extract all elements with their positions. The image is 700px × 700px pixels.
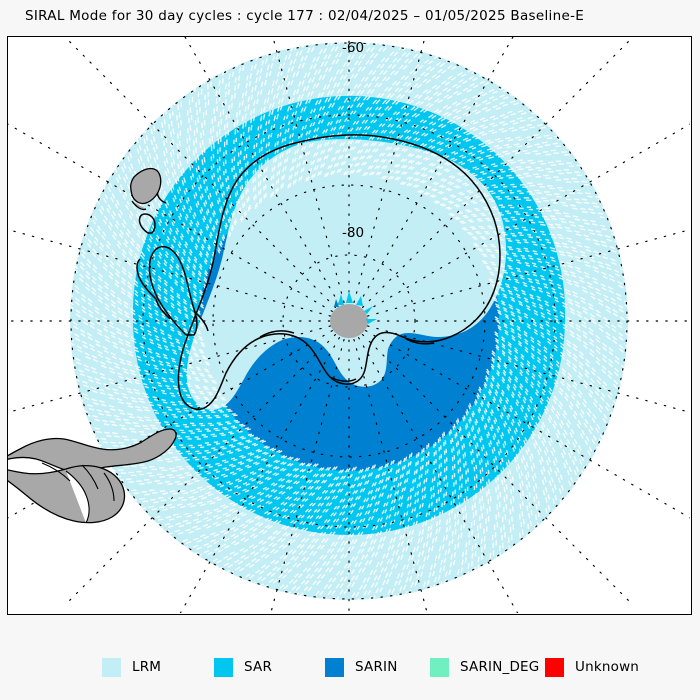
mode-legend: LRM SAR SARIN SARIN_DEG Unknown	[0, 652, 700, 686]
legend-item-sarin: SARIN	[325, 652, 398, 682]
legend-label-unknown: Unknown	[575, 659, 639, 675]
legend-swatch-lrm	[102, 658, 121, 677]
legend-item-lrm: LRM	[102, 652, 161, 682]
legend-swatch-sarin-deg	[430, 658, 449, 677]
legend-label-sarin: SARIN	[355, 659, 398, 675]
legend-item-unknown: Unknown	[545, 652, 639, 682]
page-title: SIRAL Mode for 30 day cycles : cycle 177…	[25, 8, 584, 24]
polar-map: -60 -80	[8, 37, 690, 613]
legend-swatch-unknown	[545, 658, 564, 677]
legend-swatch-sar	[214, 658, 233, 677]
legend-label-lrm: LRM	[132, 659, 161, 675]
legend-label-sarin-deg: SARIN_DEG	[460, 659, 539, 675]
latitude-label-minus60: -60	[342, 40, 364, 56]
latitude-label-minus80: -80	[342, 225, 364, 241]
legend-label-sar: SAR	[244, 659, 272, 675]
legend-item-sar: SAR	[214, 652, 272, 682]
legend-swatch-sarin	[325, 658, 344, 677]
map-plot-area: -60 -80	[7, 36, 692, 615]
legend-item-sarin-deg: SARIN_DEG	[430, 652, 539, 682]
